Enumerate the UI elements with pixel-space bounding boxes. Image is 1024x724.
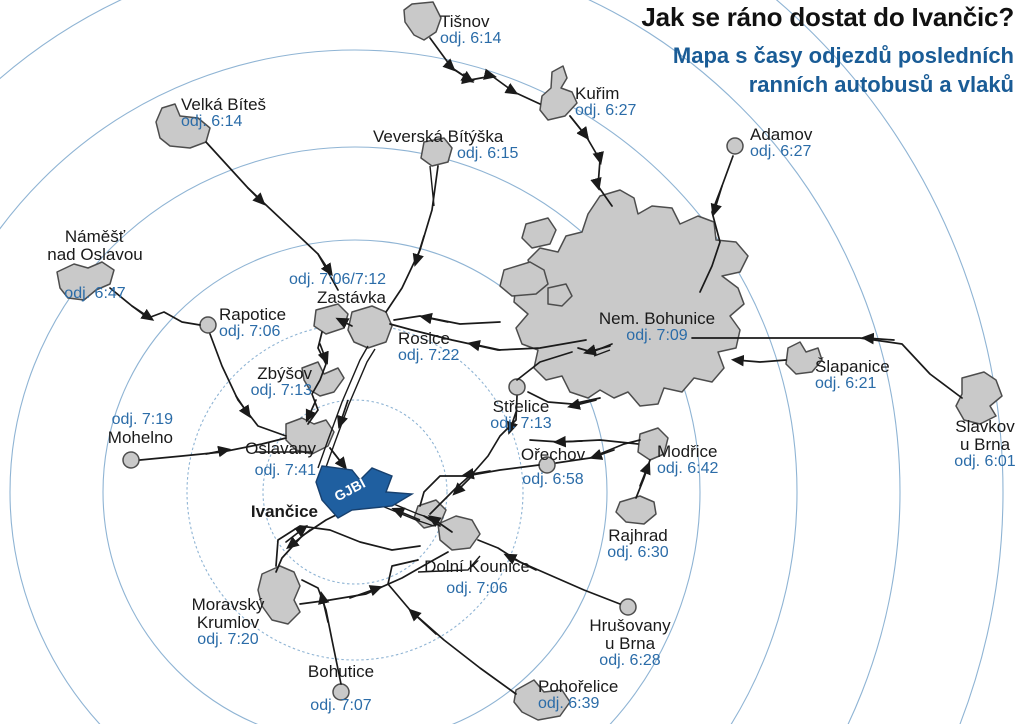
place-name: Oslavany [245,440,316,458]
place-label-adamov[interactable]: Adamov odj. 6:27 [750,126,812,161]
town-shape-dolni-kounice [438,516,480,550]
route-modrice-west [530,440,638,444]
place-time: odj. 6:27 [575,103,636,120]
place-time: odj. 7:06 [219,324,286,341]
place-time: odj. 6:42 [657,461,718,478]
place-label-pohorelice[interactable]: Pohořelice odj. 6:39 [538,678,618,713]
route-tisnov-kurim-arrow [452,68,470,80]
place-time: odj. 7:06 [424,581,530,598]
route-rajhrad-a [640,466,648,486]
place-name: Rajhrad [607,527,668,545]
place-time: odj. 6:21 [815,376,890,393]
place-time: odj. 6:58 [521,472,585,489]
place-time: odj. 6:47 [47,286,142,303]
place-time: odj. 7:41 [245,463,316,480]
place-label-strelice[interactable]: Střelice odj. 7:13 [490,398,551,433]
route-velkabites-a [248,188,262,202]
subtitle-line-2: ranních autobusů a vlaků [641,71,1014,100]
place-time: odj. 6:30 [607,545,668,562]
dot-adamov [727,138,743,154]
place-label-tisnov[interactable]: Tišnov odj. 6:14 [440,13,501,48]
place-name-2: u Brna [954,436,1015,454]
place-label-slavkov[interactable]: Slavkov u Brna odj. 6:01 [954,418,1015,471]
place-time: odj. 6:27 [750,144,812,161]
place-time: odj. 7:07 [308,698,374,715]
place-label-velka-bites[interactable]: Velká Bíteš odj. 6:14 [181,96,266,131]
town-shape-zastavka [314,304,348,334]
place-name-2: Krumlov [192,614,265,632]
place-name: Velká Bíteš [181,96,266,114]
place-label-mohelno[interactable]: odj. 7:19 Mohelno [108,412,173,447]
route-slapanice-brno [736,360,786,362]
place-label-rajhrad[interactable]: Rajhrad odj. 6:30 [607,527,668,562]
route-namest-a [132,306,150,318]
place-name: Rosice [398,330,459,348]
route-brno-rosice [394,316,500,324]
place-name: Nem. Bohunice [599,310,715,328]
place-name: Zastávka [289,289,386,307]
route-velkabites-b [318,254,330,272]
place-label-bohutice[interactable]: Bohutice odj. 7:07 [308,663,374,715]
route-pohorelice-a [412,612,436,634]
place-name: Hrušovany [589,617,670,635]
place-name: Mohelno [108,429,173,447]
place-label-modrice[interactable]: Modřice odj. 6:42 [657,443,718,478]
dot-rapotice [200,317,216,333]
place-time: odj. 7:13 [251,383,312,400]
place-time: odj. 7:09 [599,328,715,345]
page-title: Jak se ráno dostat do Ivančic? [641,2,1014,33]
place-name: Náměšť [47,228,142,246]
place-name: Veverská Bítýška [373,128,518,146]
place-name: Adamov [750,126,812,144]
title-block: Jak se ráno dostat do Ivančic? Mapa s ča… [641,2,1014,99]
place-label-rapotice[interactable]: Rapotice odj. 7:06 [219,306,286,341]
place-name: Střelice [490,398,551,416]
place-time: odj. 6:28 [589,653,670,670]
place-name: Tišnov [440,13,501,31]
place-name: Ořechov [521,446,585,464]
subtitle-line-1: Mapa s časy odjezdů posledních [641,42,1014,71]
page-subtitle: Mapa s časy odjezdů posledních ranních a… [641,42,1014,99]
dot-mohelno [123,452,139,468]
place-time: odj. 6:39 [538,696,618,713]
place-name: Pohořelice [538,678,618,696]
route-modrice-a [558,441,582,442]
place-time: odj. 7:13 [490,416,551,433]
town-shape-rajhrad [616,496,656,524]
place-name: Dolní Kounice [424,558,530,576]
place-name-2: u Brna [589,635,670,653]
route-bohunice-rosice2-a [472,344,500,350]
place-name: Bohutice [308,663,374,681]
place-label-zastavka[interactable]: odj. 7:06/7:12 Zastávka [289,272,386,307]
place-label-moravsky-krumlov[interactable]: Moravský Krumlov odj. 7:20 [192,596,265,649]
route-ivancice-mk-a [290,530,310,546]
place-label-rosice[interactable]: Rosice odj. 7:22 [398,330,459,365]
place-label-kurim[interactable]: Kuřim odj. 6:27 [575,85,636,120]
place-name: Kuřim [575,85,636,103]
dot-hrusovany [620,599,636,615]
place-name: Moravský [192,596,265,614]
leader-veverska [430,166,434,206]
place-name-2: nad Oslavou [47,246,142,264]
town-shape-tisnov [404,2,441,40]
route-dk-mk2-a [350,588,378,598]
place-label-orechov[interactable]: Ořechov odj. 6:58 [521,446,585,489]
place-label-slapanice[interactable]: Šlapanice odj. 6:21 [815,358,890,393]
place-time: odj. 7:22 [398,348,459,365]
route-velkabites [206,142,338,290]
place-name: Slavkov [954,418,1015,436]
place-label-bohunice[interactable]: Nem. Bohunice odj. 7:09 [599,310,715,345]
place-time: odj. 6:14 [181,114,266,131]
town-shape-kurim [540,66,577,120]
place-time: odj. 7:06/7:12 [289,272,386,289]
route-adamov-arrow [714,186,722,212]
route-rapotice-a [236,396,248,414]
place-label-ivancice[interactable]: Ivančice [251,503,318,521]
place-name: Modřice [657,443,718,461]
route-brno-rosice-a [424,317,448,322]
town-shape-bohunice-sat3 [522,218,556,248]
place-label-hrusovany[interactable]: Hrušovany u Brna odj. 6:28 [589,617,670,670]
place-name: Šlapanice [815,358,890,376]
place-time: odj. 6:14 [440,31,501,48]
place-time: odj. 7:20 [192,632,265,649]
place-label-dolni-kounice[interactable]: Dolní Kounice odj. 7:06 [424,558,530,598]
route-veverska [386,166,438,312]
place-time: odj. 6:15 [457,146,518,163]
place-label-namest[interactable]: Náměšť nad Oslavou odj. 6:47 [47,228,142,303]
map-canvas: GJBI Jak se ráno dostat do Ivančic? Mapa… [0,0,1024,724]
dot-strelice [509,379,525,395]
place-name: Ivančice [251,503,318,521]
place-time: odj. 7:19 [108,412,173,429]
place-time: odj. 6:01 [954,454,1015,471]
place-name: Rapotice [219,306,286,324]
route-kurim-south [570,116,612,206]
place-name: Zbýšov [251,365,312,383]
place-label-veverska-bityska[interactable]: Veverská Bítýška odj. 6:15 [373,128,518,163]
place-label-zbysov[interactable]: Zbýšov odj. 7:13 [251,365,312,400]
place-label-oslavany[interactable]: Oslavany odj. 7:41 [245,440,316,480]
